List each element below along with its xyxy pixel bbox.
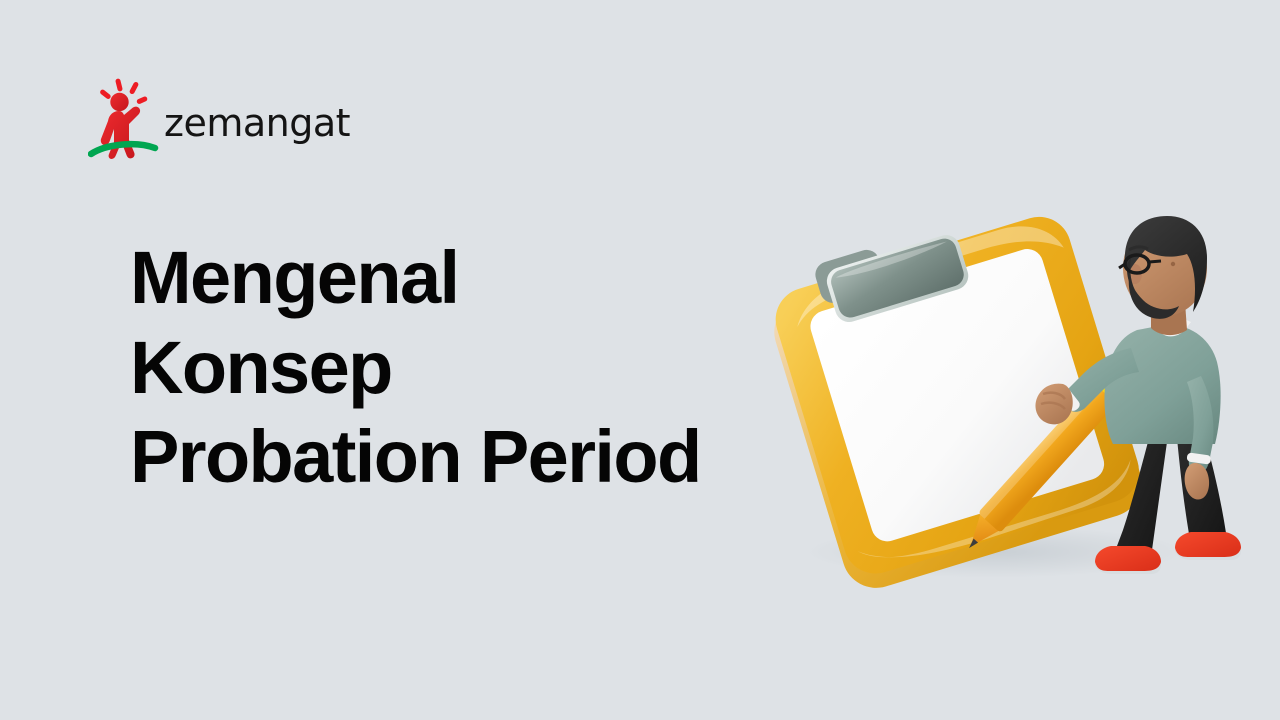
clipboard-and-person-illustration (745, 180, 1265, 600)
cheering-person-icon (88, 78, 160, 160)
headline-line-3: Probation Period (130, 412, 850, 502)
shoe-front (1175, 532, 1241, 558)
brand-wordmark: zemangat (164, 104, 350, 142)
slide-canvas: zemangat Mengenal Konsep Probation Perio… (0, 0, 1280, 720)
headline-line-2: Konsep (130, 323, 850, 413)
brand-logo[interactable]: zemangat (88, 78, 348, 164)
shoe-back (1095, 546, 1161, 572)
headline-line-1: Mengenal (130, 233, 850, 323)
page-title: Mengenal Konsep Probation Period (130, 233, 850, 502)
